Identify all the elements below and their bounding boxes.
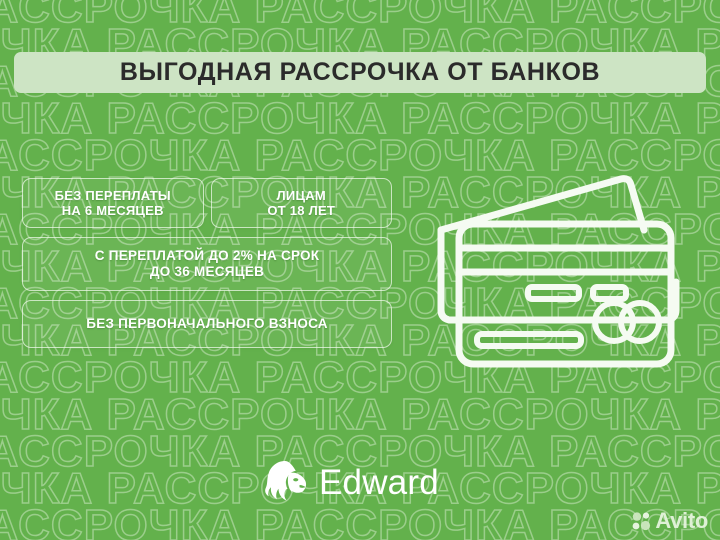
watermark-row: РАССРОЧКА РАССРОЧКА РАССРОЧКА РАССРОЧКА	[0, 504, 720, 540]
page-title: ВЫГОДНАЯ РАССРОЧКА ОТ БАНКОВ	[120, 58, 600, 87]
feature-card-label: ЛИЦАМ ОТ 18 ЛЕТ	[267, 188, 335, 219]
feature-card-overpayment-2-percent-36-months: С ПЕРЕПЛАТОЙ ДО 2% НА СРОК ДО 36 МЕСЯЦЕВ	[22, 237, 392, 291]
feature-card-no-down-payment: БЕЗ ПЕРВОНАЧАЛЬНОГО ВЗНОСА	[22, 300, 392, 348]
avito-wordmark: Avito	[655, 510, 708, 532]
lion-head-icon	[262, 458, 310, 506]
feature-card-label: БЕЗ ПЕРЕПЛАТЫ НА 6 МЕСЯЦЕВ	[55, 188, 171, 219]
feature-card-label: С ПЕРЕПЛАТОЙ ДО 2% НА СРОК ДО 36 МЕСЯЦЕВ	[95, 248, 320, 280]
feature-card-list: БЕЗ ПЕРЕПЛАТЫ НА 6 МЕСЯЦЕВ ЛИЦАМ ОТ 18 Л…	[22, 178, 392, 357]
brand-name: Edward	[319, 465, 439, 500]
feature-card-row: С ПЕРЕПЛАТОЙ ДО 2% НА СРОК ДО 36 МЕСЯЦЕВ	[22, 237, 392, 291]
feature-card-row: БЕЗ ПЕРВОНАЧАЛЬНОГО ВЗНОСА	[22, 300, 392, 348]
feature-card-row: БЕЗ ПЕРЕПЛАТЫ НА 6 МЕСЯЦЕВ ЛИЦАМ ОТ 18 Л…	[22, 178, 392, 228]
feature-card-label: БЕЗ ПЕРВОНАЧАЛЬНОГО ВЗНОСА	[86, 316, 328, 332]
avito-dots-icon	[631, 511, 651, 531]
header-banner: ВЫГОДНАЯ РАССРОЧКА ОТ БАНКОВ	[14, 52, 706, 93]
feature-card-age-18-plus: ЛИЦАМ ОТ 18 ЛЕТ	[211, 178, 393, 228]
brand-logo: Edward	[262, 458, 439, 506]
watermark-row: РАССРОЧКА РАССРОЧКА РАССРОЧКА РАССРОЧКА	[0, 97, 720, 141]
avito-watermark: Avito	[631, 510, 708, 532]
feature-card-no-overpayment-6-months: БЕЗ ПЕРЕПЛАТЫ НА 6 МЕСЯЦЕВ	[22, 178, 204, 228]
watermark-row: РАССРОЧКА РАССРОЧКА РАССРОЧКА РАССРОЧКА	[0, 0, 720, 30]
promo-banner-canvas: РАССРОЧКА РАССРОЧКА РАССРОЧКА РАССРОЧКА …	[0, 0, 720, 540]
credit-cards-icon	[425, 160, 700, 400]
